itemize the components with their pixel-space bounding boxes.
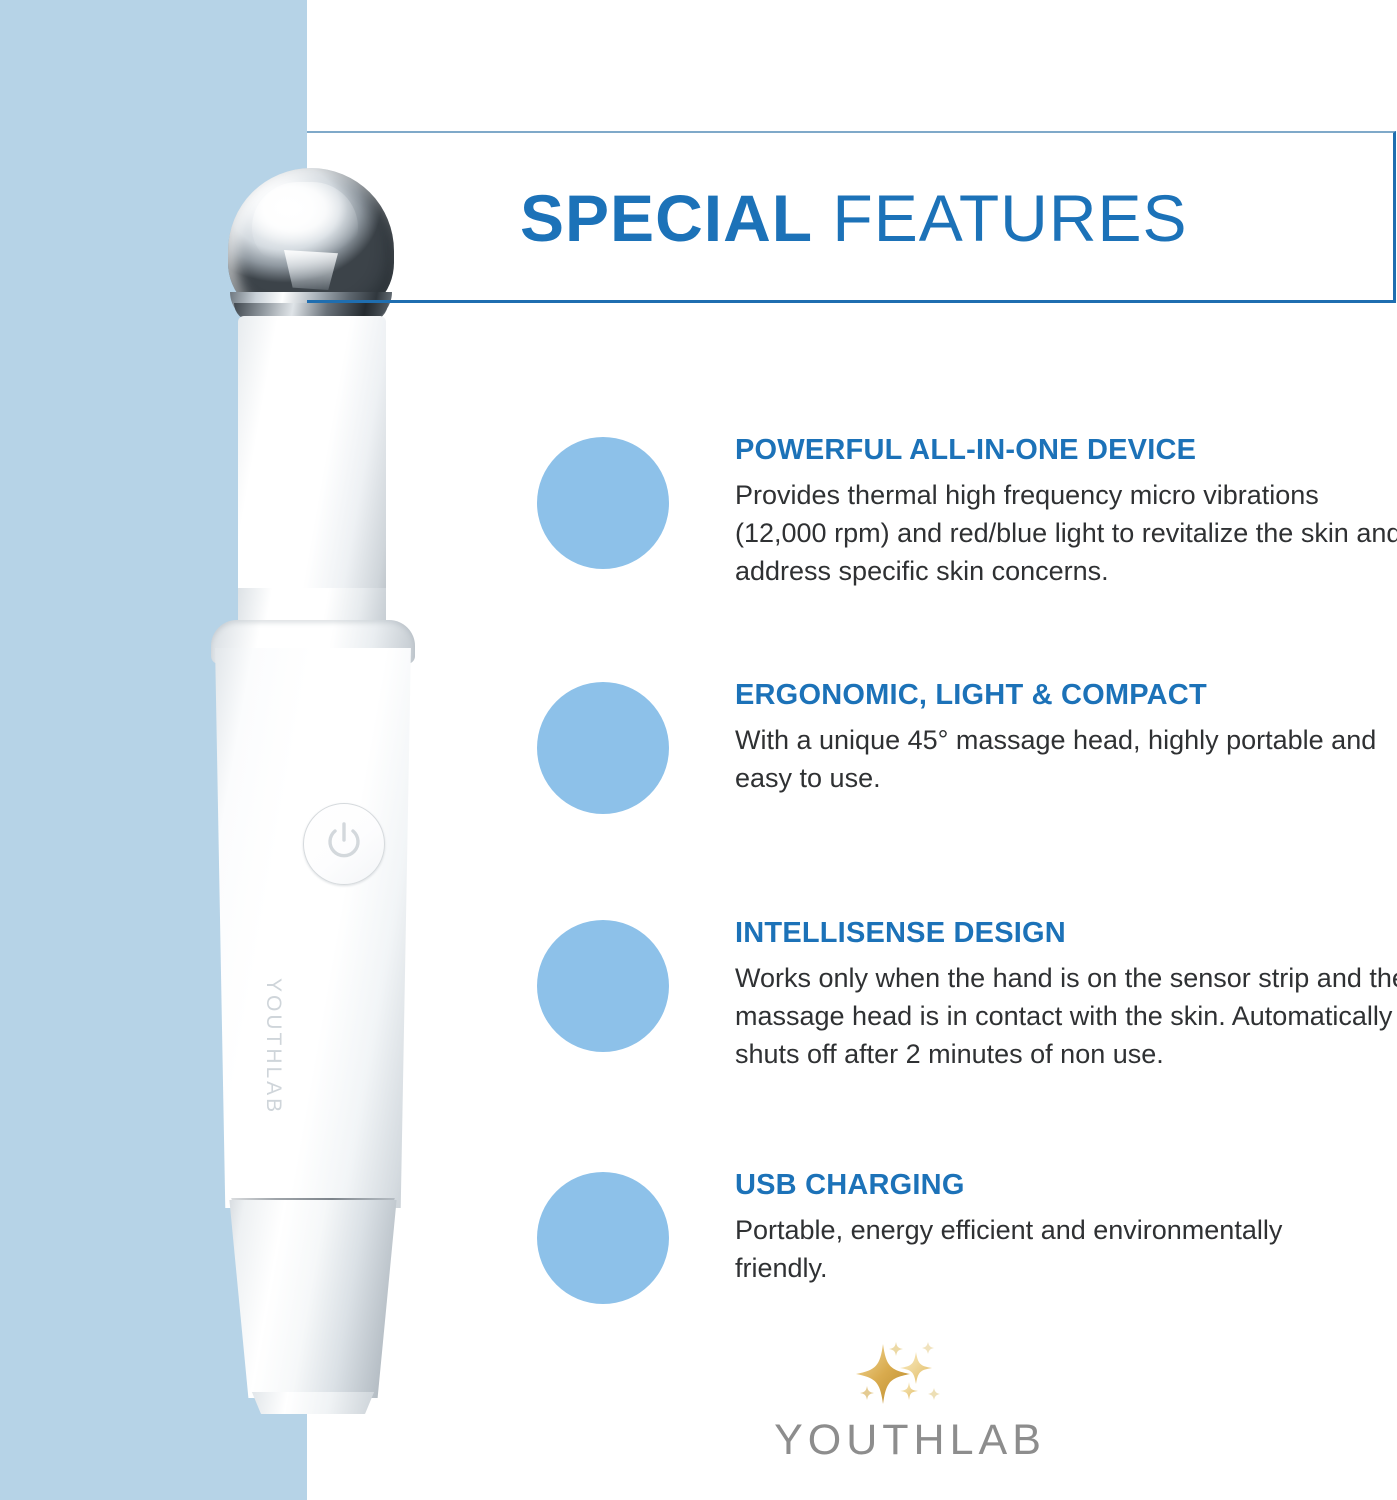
product-device-image: YOUTHLAB [178,168,468,1423]
icon-background-circle [537,1172,669,1304]
feature-text-block: ERGONOMIC, LIGHT & COMPACT With a unique… [735,675,1397,797]
angle-45-degree-icon: 45° [535,680,671,816]
device-neck [238,316,386,616]
power-icon [323,822,365,866]
feature-heading: USB CHARGING [735,1165,1335,1205]
feature-text-block: POWERFUL ALL-IN-ONE DEVICE Provides ther… [735,430,1397,590]
brand-logo: YOUTHLAB [745,1338,1075,1488]
feature-body: Works only when the hand is on the senso… [735,959,1397,1073]
feature-text-block: USB CHARGING Portable, energy efficient … [735,1165,1335,1287]
lightbulb-icon [535,918,671,1054]
brand-wordmark: YOUTHLAB [745,1416,1075,1465]
page-title: SPECIAL FEATURES [520,176,1350,260]
device-brand-text: YOUTHLAB [261,978,285,1168]
icon-background-circle [537,682,669,814]
page-title-light: FEATURES [813,181,1187,255]
feature-body: Portable, energy efficient and environme… [735,1211,1335,1287]
feature-heading: POWERFUL ALL-IN-ONE DEVICE [735,430,1397,470]
special-features-infographic: YOUTHLAB SPECIAL FEATURES 1 POWERFUL ALL… [0,0,1397,1500]
page-title-strong: SPECIAL [520,181,813,255]
device-foot [248,1392,378,1414]
feature-text-block: INTELLISENSE DESIGN Works only when the … [735,913,1397,1073]
usb-drive-icon [535,1170,671,1306]
rotating-arrows-one-icon: 1 [535,435,671,571]
feature-heading: INTELLISENSE DESIGN [735,913,1397,953]
sparkles-icon [840,1338,980,1410]
sparkles-glyph [840,1338,980,1410]
feature-heading: ERGONOMIC, LIGHT & COMPACT [735,675,1397,715]
power-button[interactable] [303,803,385,885]
icon-background-circle [537,437,669,569]
device-silver-base [218,1200,408,1398]
feature-body: Provides thermal high frequency micro vi… [735,476,1397,590]
device-handle-body: YOUTHLAB [211,648,415,1208]
icon-background-circle [537,920,669,1052]
feature-body: With a unique 45° massage head, highly p… [735,721,1397,797]
